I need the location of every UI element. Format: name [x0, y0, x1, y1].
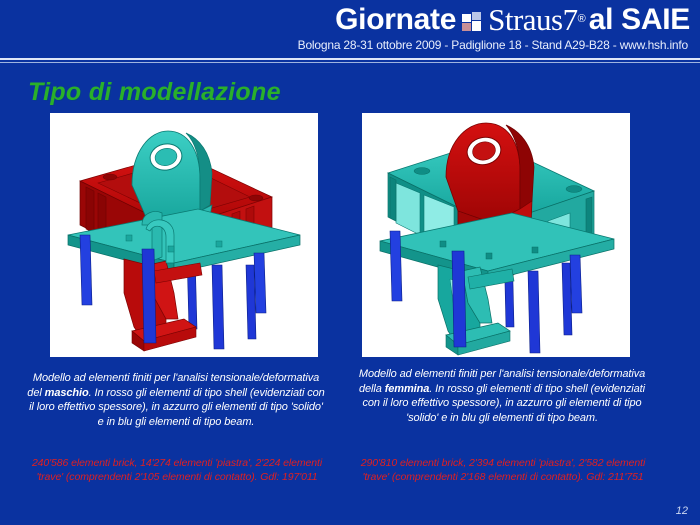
caption-maschio-keyword: maschio [45, 387, 89, 399]
slide-header: Giornate Straus7 ® al SAIE Bologna 28-31… [0, 0, 700, 62]
caption-femmina: Modello ad elementi finiti per l'analisi… [352, 367, 652, 425]
stats-femmina: 290'810 elementi brick, 2'394 elementi '… [348, 457, 658, 484]
page-title: Tipo di modellazione [28, 78, 281, 107]
header-divider-secondary [0, 62, 700, 63]
header-subtitle: Bologna 28-31 ottobre 2009 - Padiglione … [298, 38, 688, 52]
fem-model-maschio-figure [50, 113, 318, 357]
page-number: 12 [676, 505, 688, 517]
header-divider-primary [0, 58, 700, 60]
model-image-maschio [50, 113, 318, 357]
header-title-giornate: Giornate [335, 5, 456, 35]
caption-maschio: Modello ad elementi finiti per l'analisi… [26, 371, 326, 429]
presentation-slide: Giornate Straus7 ® al SAIE Bologna 28-31… [0, 0, 700, 525]
caption-femmina-keyword: femmina [385, 383, 430, 395]
stats-maschio: 240'586 elementi brick, 14'274 elementi … [22, 457, 332, 484]
model-image-femmina [362, 113, 630, 357]
straus7-squares-logo-icon [462, 12, 484, 32]
header-title-saie: al SAIE [589, 5, 690, 35]
registered-mark-icon: ® [578, 14, 586, 25]
fem-model-femmina-figure [362, 113, 630, 357]
header-title: Giornate Straus7 ® al SAIE [335, 4, 690, 35]
header-title-straus7: Straus7 [488, 4, 578, 35]
